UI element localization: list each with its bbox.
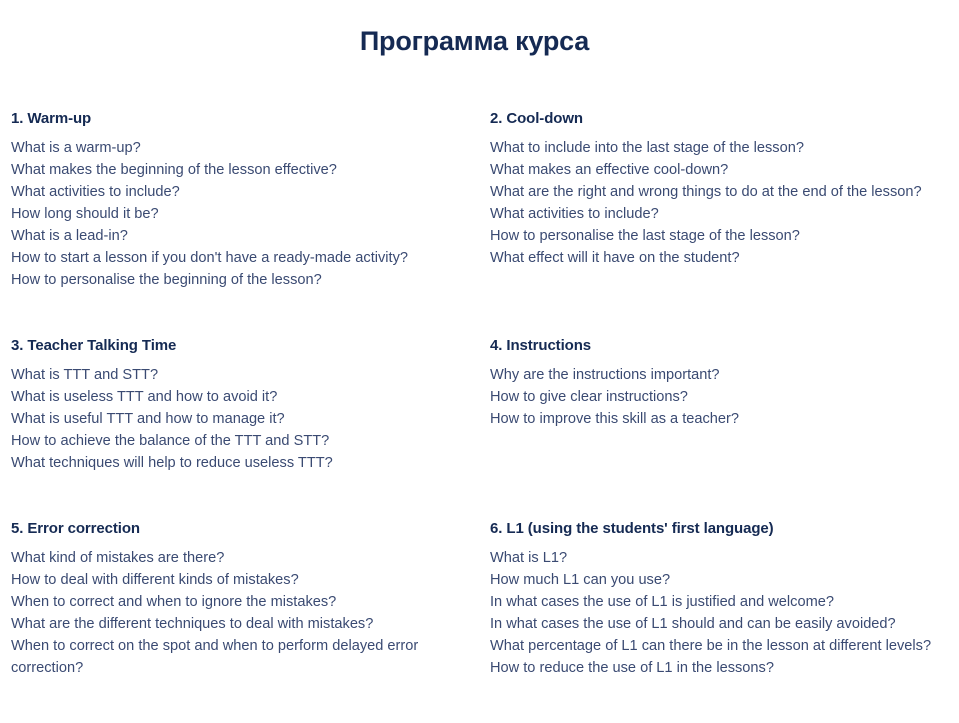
- list-item: What is L1?: [490, 547, 940, 569]
- section-item-list: What is a warm-up? What makes the beginn…: [11, 137, 490, 291]
- list-item: How to give clear instructions?: [490, 386, 940, 408]
- grid-cell-5: 5. Error correction What kind of mistake…: [11, 518, 490, 723]
- grid-cell-1: 1. Warm-up What is a warm-up? What makes…: [11, 108, 490, 335]
- grid-cell-6: 6. L1 (using the students' first languag…: [490, 518, 949, 723]
- section-heading: 5. Error correction: [11, 518, 490, 540]
- list-item: What kind of mistakes are there?: [11, 547, 463, 569]
- list-item: How long should it be?: [11, 203, 463, 225]
- list-item: How to improve this skill as a teacher?: [490, 408, 940, 430]
- section-instructions: 4. Instructions Why are the instructions…: [490, 335, 949, 430]
- list-item: When to correct on the spot and when to …: [11, 635, 463, 679]
- list-item: What activities to include?: [11, 181, 463, 203]
- section-l1-first-language: 6. L1 (using the students' first languag…: [490, 518, 949, 679]
- section-item-list: What kind of mistakes are there? How to …: [11, 547, 490, 679]
- list-item: In what cases the use of L1 should and c…: [490, 613, 940, 635]
- section-item-list: Why are the instructions important? How …: [490, 364, 949, 430]
- list-item: What techniques will help to reduce usel…: [11, 452, 463, 474]
- list-item: What is TTT and STT?: [11, 364, 463, 386]
- list-item: How to deal with different kinds of mist…: [11, 569, 463, 591]
- list-item: How to achieve the balance of the TTT an…: [11, 430, 463, 452]
- list-item: How to personalise the beginning of the …: [11, 269, 463, 291]
- section-heading: 6. L1 (using the students' first languag…: [490, 518, 949, 540]
- section-item-list: What is L1? How much L1 can you use? In …: [490, 547, 949, 679]
- grid-cell-2: 2. Cool-down What to include into the la…: [490, 108, 949, 335]
- list-item: What makes the beginning of the lesson e…: [11, 159, 463, 181]
- list-item: How much L1 can you use?: [490, 569, 940, 591]
- list-item: How to reduce the use of L1 in the lesso…: [490, 657, 940, 679]
- list-item: What effect will it have on the student?: [490, 247, 940, 269]
- section-heading: 1. Warm-up: [11, 108, 490, 130]
- list-item: What are the different techniques to dea…: [11, 613, 463, 635]
- list-item: Why are the instructions important?: [490, 364, 940, 386]
- section-item-list: What is TTT and STT? What is useless TTT…: [11, 364, 490, 474]
- list-item: What makes an effective cool-down?: [490, 159, 940, 181]
- grid-cell-4: 4. Instructions Why are the instructions…: [490, 335, 949, 518]
- list-item: What is a lead-in?: [11, 225, 463, 247]
- section-error-correction: 5. Error correction What kind of mistake…: [11, 518, 490, 679]
- section-heading: 3. Teacher Talking Time: [11, 335, 490, 357]
- section-heading: 4. Instructions: [490, 335, 949, 357]
- list-item: In what cases the use of L1 is justified…: [490, 591, 940, 613]
- list-item: When to correct and when to ignore the m…: [11, 591, 463, 613]
- page-title: Программа курса: [0, 24, 949, 58]
- list-item: What activities to include?: [490, 203, 940, 225]
- course-program-page: Программа курса 1. Warm-up What is a war…: [0, 0, 959, 719]
- list-item: How to personalise the last stage of the…: [490, 225, 940, 247]
- list-item: What to include into the last stage of t…: [490, 137, 940, 159]
- list-item: How to start a lesson if you don't have …: [11, 247, 463, 269]
- grid-cell-3: 3. Teacher Talking Time What is TTT and …: [11, 335, 490, 518]
- list-item: What is useless TTT and how to avoid it?: [11, 386, 463, 408]
- section-heading: 2. Cool-down: [490, 108, 949, 130]
- list-item: What is a warm-up?: [11, 137, 463, 159]
- section-item-list: What to include into the last stage of t…: [490, 137, 949, 269]
- list-item: What is useful TTT and how to manage it?: [11, 408, 463, 430]
- list-item: What percentage of L1 can there be in th…: [490, 635, 940, 657]
- list-item: What are the right and wrong things to d…: [490, 181, 940, 203]
- syllabus-grid: 1. Warm-up What is a warm-up? What makes…: [11, 108, 949, 723]
- section-warm-up: 1. Warm-up What is a warm-up? What makes…: [11, 108, 490, 291]
- section-cool-down: 2. Cool-down What to include into the la…: [490, 108, 949, 269]
- section-teacher-talking-time: 3. Teacher Talking Time What is TTT and …: [11, 335, 490, 474]
